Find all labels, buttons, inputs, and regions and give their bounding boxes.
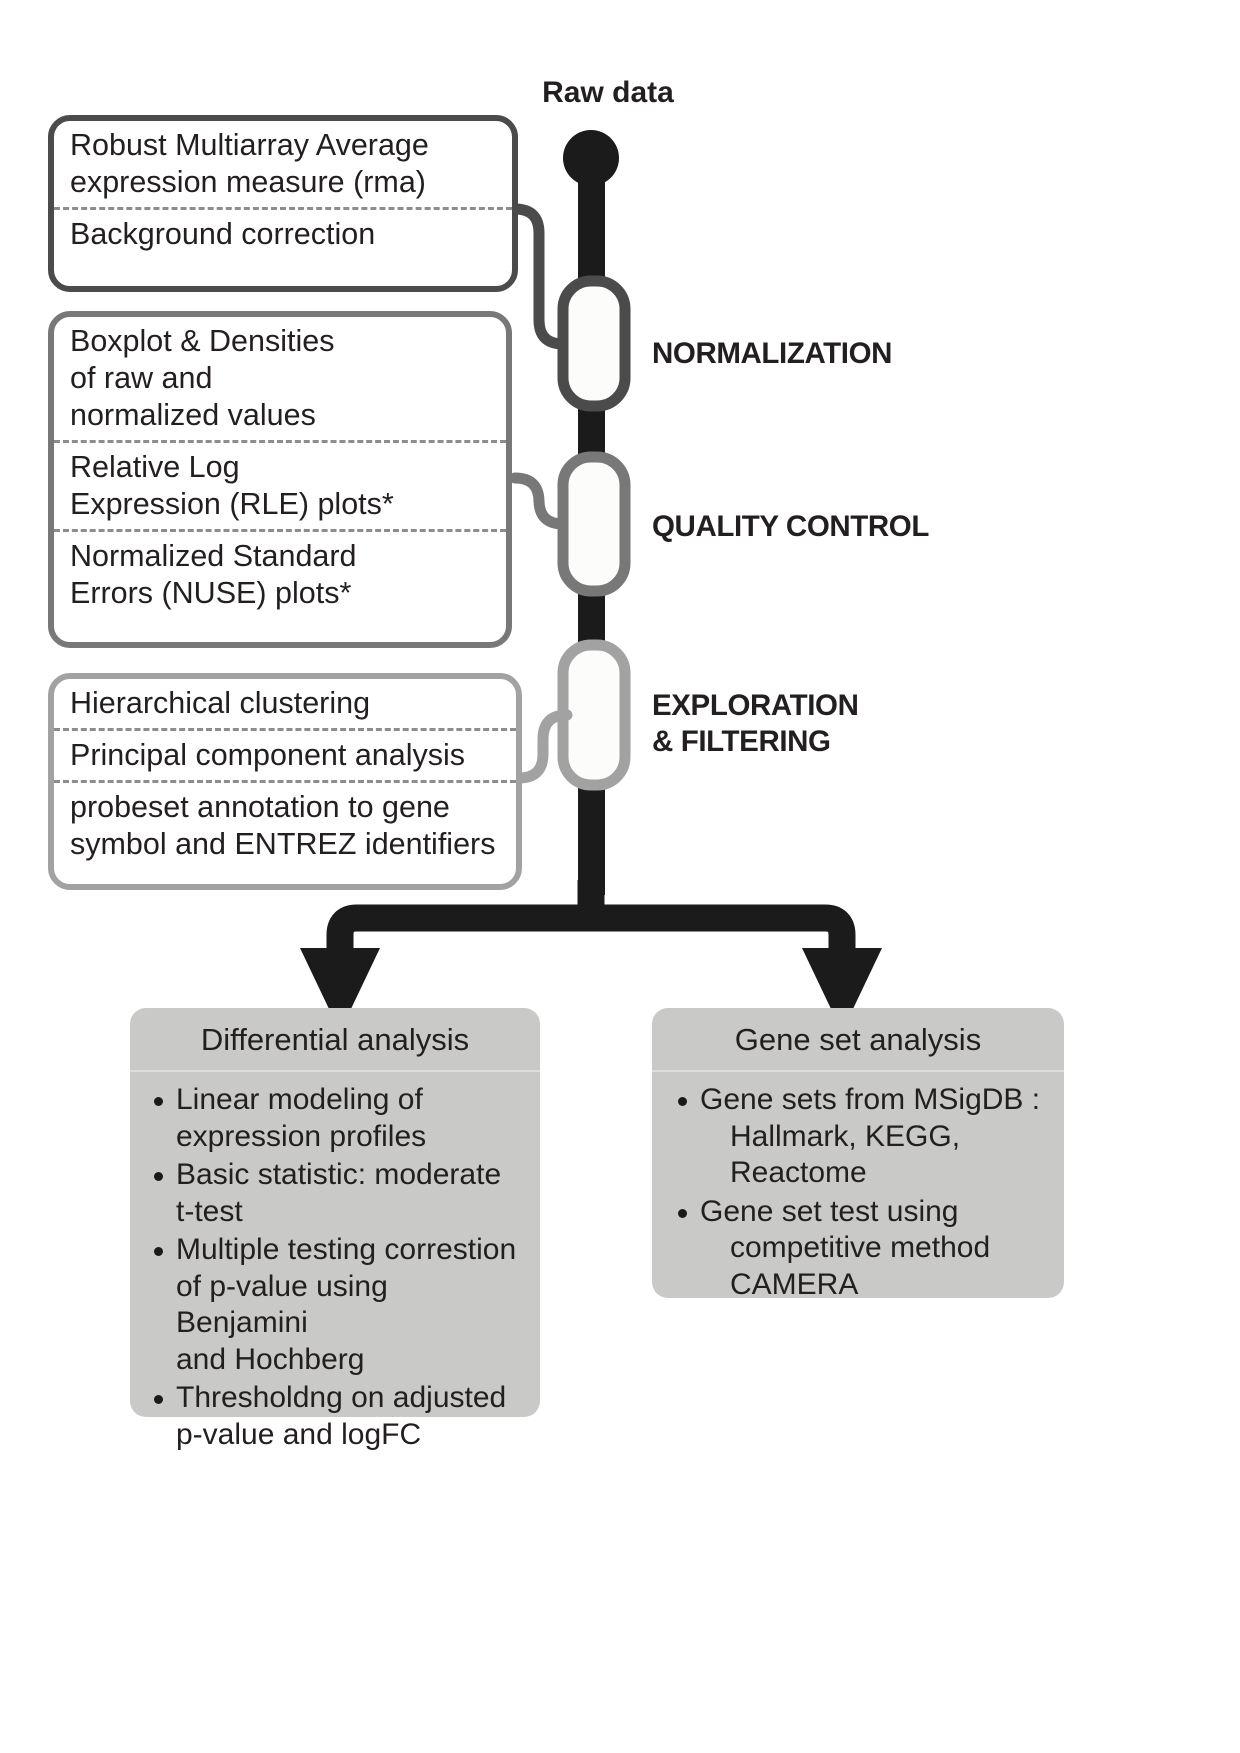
step-line: Robust Multiarray Average	[70, 127, 498, 164]
bullet-line: Multiple testing correstion	[176, 1233, 516, 1266]
capsule-normalization	[563, 281, 625, 406]
bullet-line: Gene sets from MSigDB :	[700, 1083, 1040, 1116]
output-bullet-list: Linear modeling of expression profiles B…	[130, 1072, 540, 1471]
bullet-line: t-test	[176, 1194, 526, 1231]
step-line: Errors (NUSE) plots*	[70, 575, 492, 612]
bullet-line: Thresholdng on adjusted	[176, 1381, 506, 1414]
panel-row: Boxplot & Densities of raw and normalize…	[54, 317, 506, 440]
step-line: Principal component analysis	[70, 737, 502, 774]
output-box-gene-set-analysis: Gene set analysis Gene sets from MSigDB …	[652, 1008, 1064, 1298]
panel-row: probeset annotation to gene symbol and E…	[54, 780, 516, 869]
raw-data-node-icon	[563, 130, 619, 186]
stage-label-exploration-filtering: EXPLORATION & FILTERING	[652, 688, 858, 760]
step-line: Expression (RLE) plots*	[70, 486, 492, 523]
step-line: Relative Log	[70, 449, 492, 486]
step-line: symbol and ENTREZ identifiers	[70, 826, 502, 863]
output-box-differential-analysis: Differential analysis Linear modeling of…	[130, 1008, 540, 1417]
list-item: Thresholdng on adjusted p-value and logF…	[150, 1380, 526, 1453]
bullet-line: p-value and logFC	[176, 1417, 526, 1454]
bullet-line: Linear modeling of	[176, 1083, 423, 1116]
output-box-title: Gene set analysis	[652, 1008, 1064, 1072]
step-line: expression measure (rma)	[70, 164, 498, 201]
list-item: Gene sets from MSigDB : Hallmark, KEGG, …	[674, 1082, 1050, 1192]
step-line: Background correction	[70, 216, 498, 253]
fork-arrows-group	[340, 880, 842, 960]
output-box-title: Differential analysis	[130, 1008, 540, 1072]
panel-normalization: Robust Multiarray Average expression mea…	[48, 115, 518, 292]
connector-quality-control	[515, 478, 563, 524]
bullet-line: and Hochberg	[176, 1342, 526, 1379]
step-line: Boxplot & Densities	[70, 323, 492, 360]
step-line: normalized values	[70, 397, 492, 434]
bullet-line: Reactome	[700, 1155, 1050, 1192]
bullet-line: expression profiles	[176, 1119, 526, 1156]
stage-capsules-group	[563, 281, 625, 785]
connector-normalization	[515, 209, 563, 344]
list-item: Gene set test using competitive method C…	[674, 1194, 1050, 1304]
step-line: probeset annotation to gene	[70, 789, 502, 826]
fork-branch	[340, 918, 842, 960]
list-item: Multiple testing correstion of p-value u…	[150, 1232, 526, 1378]
step-line: Normalized Standard	[70, 538, 492, 575]
step-line: Hierarchical clustering	[70, 685, 502, 722]
bullet-line: of p-value using Benjamini	[176, 1269, 526, 1342]
panel-row: Normalized Standard Errors (NUSE) plots*	[54, 529, 506, 618]
bullet-line: Gene set test using	[700, 1195, 959, 1228]
panel-row: Background correction	[54, 207, 512, 259]
panel-exploration-filtering: Hierarchical clustering Principal compon…	[48, 673, 522, 890]
bullet-line: Hallmark, KEGG,	[700, 1119, 1050, 1156]
panel-row: Robust Multiarray Average expression mea…	[54, 121, 512, 207]
bullet-line: Basic statistic: moderate	[176, 1158, 501, 1191]
panel-quality-control: Boxplot & Densities of raw and normalize…	[48, 311, 512, 648]
bullet-line: CAMERA	[700, 1267, 1050, 1304]
bullet-line: competitive method	[700, 1230, 1050, 1267]
stage-label-normalization: NORMALIZATION	[652, 336, 892, 372]
stage-label-quality-control: QUALITY CONTROL	[652, 509, 929, 545]
output-bullet-list: Gene sets from MSigDB : Hallmark, KEGG, …	[652, 1072, 1064, 1321]
raw-data-label: Raw data	[518, 76, 698, 110]
step-line: of raw and	[70, 360, 492, 397]
panel-row: Hierarchical clustering	[54, 679, 516, 728]
panel-row: Principal component analysis	[54, 728, 516, 780]
workflow-diagram: Raw data Robust Multiarray Average expre…	[0, 0, 1240, 1753]
list-item: Basic statistic: moderate t-test	[150, 1157, 526, 1230]
panel-row: Relative Log Expression (RLE) plots*	[54, 440, 506, 529]
capsule-quality-control	[563, 457, 625, 591]
list-item: Linear modeling of expression profiles	[150, 1082, 526, 1155]
